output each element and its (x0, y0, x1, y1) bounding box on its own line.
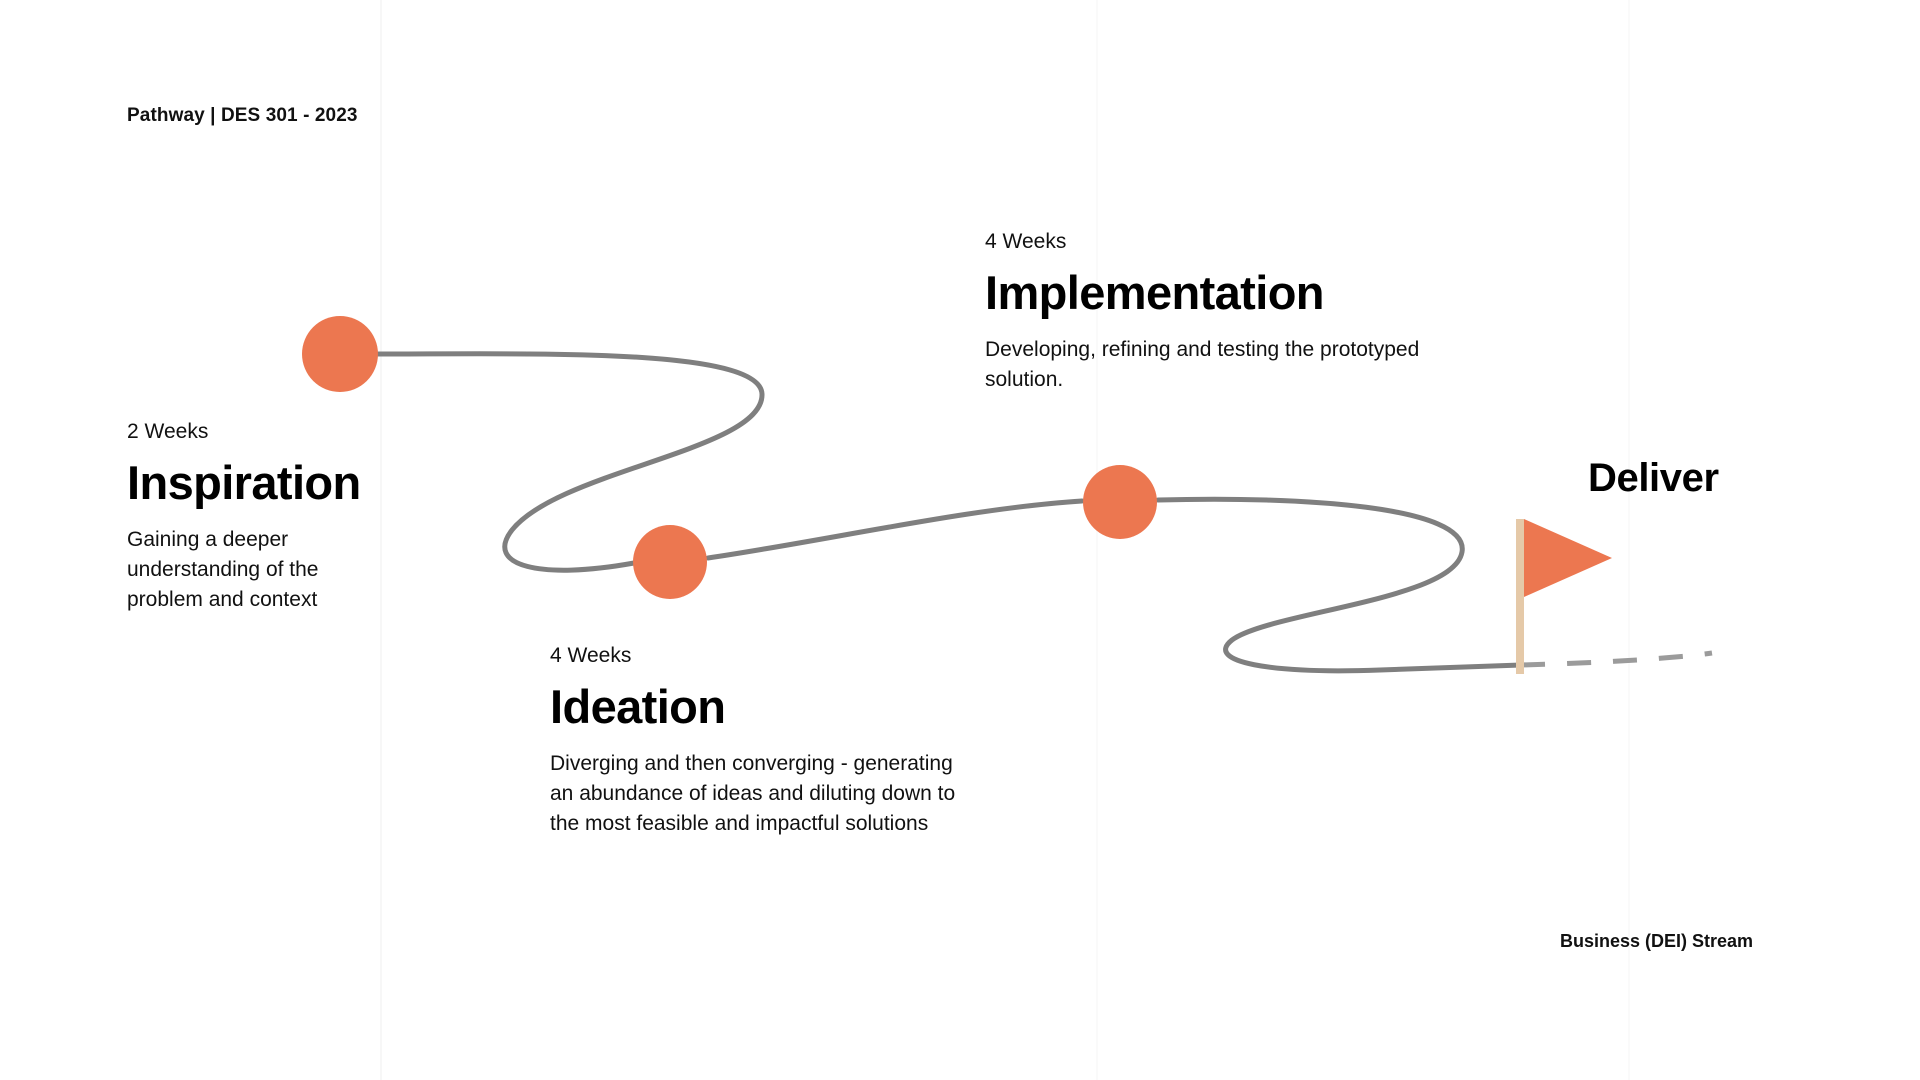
path-dashed-continuation (1521, 653, 1712, 665)
path-segment-inspiration-to-ideation (378, 354, 762, 570)
milestone-dot-inspiration[interactable] (302, 316, 378, 392)
infographic-canvas: Pathway | DES 301 - 2023 2 Weeks Inspira… (0, 0, 1920, 1080)
phase-block-implementation: 4 Weeks Implementation Developing, refin… (985, 230, 1425, 395)
phase-duration-implementation: 4 Weeks (985, 230, 1425, 254)
phase-duration-inspiration: 2 Weeks (127, 420, 397, 444)
path-segment-ideation-to-implementation (708, 501, 1082, 558)
phase-title-inspiration: Inspiration (127, 458, 397, 507)
phase-block-inspiration: 2 Weeks Inspiration Gaining a deeper und… (127, 420, 397, 615)
phase-description-inspiration: Gaining a deeper understanding of the pr… (127, 525, 397, 614)
phase-description-ideation: Diverging and then converging - generati… (550, 749, 970, 838)
phase-description-implementation: Developing, refining and testing the pro… (985, 335, 1425, 395)
flag-pole-icon (1516, 519, 1524, 674)
page-kicker: Pathway | DES 301 - 2023 (127, 105, 358, 127)
milestone-label-deliver: Deliver (1588, 456, 1719, 501)
phase-title-ideation: Ideation (550, 682, 970, 731)
phase-duration-ideation: 4 Weeks (550, 644, 970, 668)
phase-title-implementation: Implementation (985, 268, 1425, 317)
milestone-dot-implementation[interactable] (1083, 465, 1157, 539)
footer-stream-note: Business (DEI) Stream (1560, 931, 1753, 952)
path-segment-implementation-to-deliver (1158, 499, 1521, 671)
milestone-dot-ideation[interactable] (633, 525, 707, 599)
phase-block-ideation: 4 Weeks Ideation Diverging and then conv… (550, 644, 970, 839)
finish-flag-icon[interactable] (1524, 519, 1612, 597)
